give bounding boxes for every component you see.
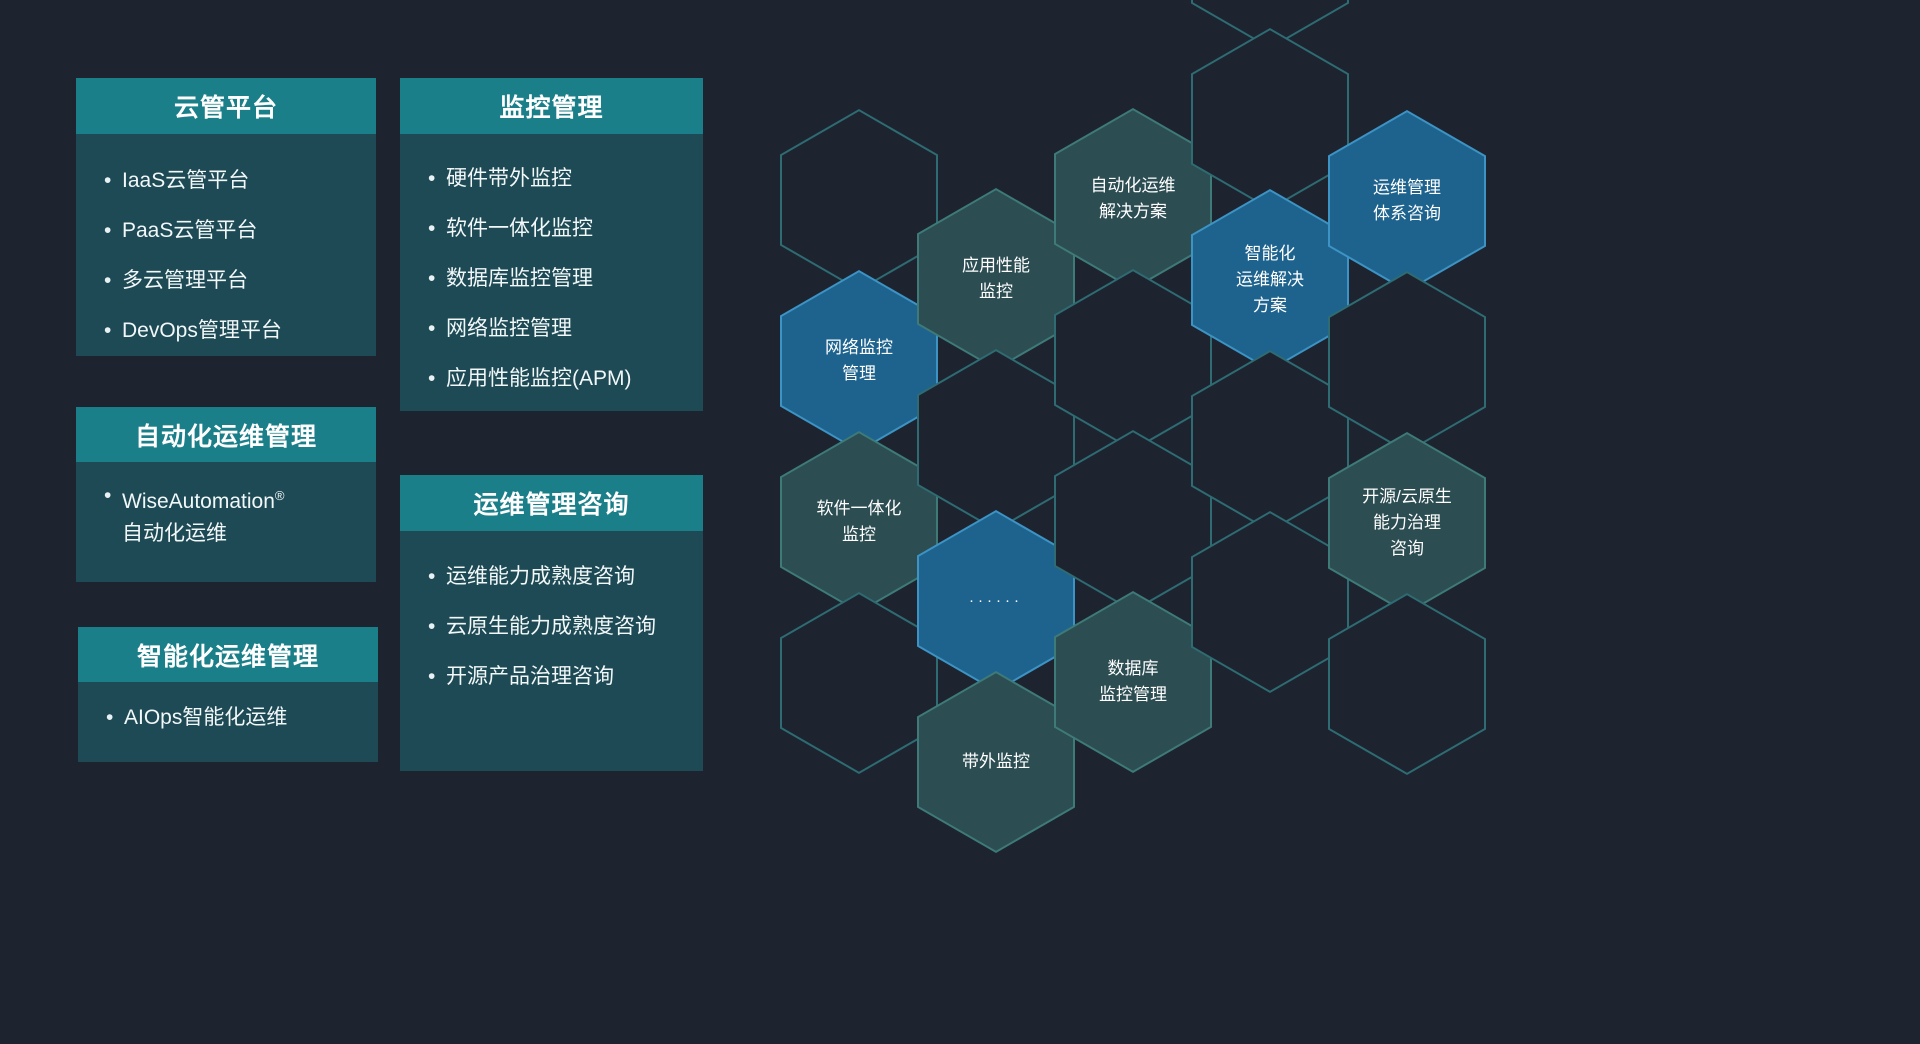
card-aiops-title: 智能化运维管理 (78, 627, 378, 682)
card-monitoring-list: 硬件带外监控 软件一体化监控 数据库监控管理 网络监控管理 应用性能监控(APM… (426, 154, 685, 404)
hex-empty-5 (1054, 430, 1212, 612)
card-cloud-platform-list: IaaS云管平台 PaaS云管平台 多云管理平台 DevOps管理平台 (102, 156, 358, 356)
list-item: 硬件带外监控 (426, 154, 685, 204)
hex-empty-4 (1054, 269, 1212, 451)
card-automation-ops-body: WiseAutomation®自动化运维 (76, 462, 376, 582)
list-item: 网络监控管理 (426, 304, 685, 354)
card-automation-ops-list: WiseAutomation®自动化运维 (102, 480, 358, 550)
hex-out-of-band-monitoring[interactable]: 带外监控 (917, 671, 1075, 853)
card-ops-consulting-title: 运维管理咨询 (400, 475, 703, 531)
list-item: WiseAutomation®自动化运维 (102, 480, 358, 550)
list-item: PaaS云管平台 (102, 206, 358, 256)
list-item: 数据库监控管理 (426, 254, 685, 304)
hex-opensource-cloudnative-consulting[interactable]: 开源/云原生 能力治理 咨询 (1328, 432, 1486, 614)
hex-software-integrated-monitoring-label: 软件一体化 监控 (809, 496, 910, 548)
hex-empty-3 (917, 349, 1075, 531)
list-item: AIOps智能化运维 (104, 702, 360, 734)
card-cloud-platform-body: IaaS云管平台 PaaS云管平台 多云管理平台 DevOps管理平台 (76, 134, 376, 356)
card-cloud-platform-title: 云管平台 (76, 78, 376, 134)
hex-aiops-solution[interactable]: 智能化 运维解决 方案 (1191, 189, 1349, 371)
capability-card-panel: 云管平台 IaaS云管平台 PaaS云管平台 多云管理平台 DevOps管理平台… (0, 0, 760, 1044)
list-item: 开源产品治理咨询 (426, 659, 685, 695)
hex-empty-8 (1191, 350, 1349, 532)
hex-ops-system-consulting[interactable]: 运维管理 体系咨询 (1328, 110, 1486, 292)
hex-ellipsis[interactable]: ······ (917, 510, 1075, 692)
list-item: 应用性能监控(APM) (426, 354, 685, 404)
hex-automation-solution-label: 自动化运维 解决方案 (1083, 173, 1184, 225)
card-automation-ops[interactable]: 自动化运维管理 WiseAutomation®自动化运维 (76, 407, 376, 582)
slide-root: 云管平台 IaaS云管平台 PaaS云管平台 多云管理平台 DevOps管理平台… (0, 0, 1920, 1044)
hex-software-integrated-monitoring[interactable]: 软件一体化 监控 (780, 431, 938, 613)
card-aiops-list: AIOps智能化运维 (104, 702, 360, 734)
hex-out-of-band-monitoring-label: 带外监控 (954, 749, 1038, 775)
list-item: 多云管理平台 (102, 256, 358, 306)
hex-ellipsis-label: ······ (961, 588, 1031, 614)
hex-empty-10 (1328, 271, 1486, 453)
hex-empty-1 (780, 109, 938, 291)
card-ops-consulting-body: 运维能力成熟度咨询 云原生能力成熟度咨询 开源产品治理咨询 (400, 531, 703, 771)
hex-aiops-solution-label: 智能化 运维解决 方案 (1228, 241, 1312, 319)
product-name: WiseAutomation (122, 490, 275, 513)
hex-database-monitoring-label: 数据库 监控管理 (1091, 656, 1175, 708)
hex-network-monitoring[interactable]: 网络监控 管理 (780, 270, 938, 452)
card-aiops-body: AIOps智能化运维 (78, 682, 378, 762)
hex-empty-2 (780, 592, 938, 774)
list-item: 运维能力成熟度咨询 (426, 559, 685, 595)
hex-empty-9 (1191, 511, 1349, 693)
card-ops-consulting-list: 运维能力成熟度咨询 云原生能力成熟度咨询 开源产品治理咨询 (426, 559, 685, 695)
card-monitoring[interactable]: 监控管理 硬件带外监控 软件一体化监控 数据库监控管理 网络监控管理 应用性能监… (400, 78, 703, 411)
card-monitoring-body: 硬件带外监控 软件一体化监控 数据库监控管理 网络监控管理 应用性能监控(APM… (400, 134, 703, 411)
registered-mark: ® (275, 488, 285, 503)
list-item: DevOps管理平台 (102, 306, 358, 356)
card-automation-ops-title: 自动化运维管理 (76, 407, 376, 462)
hexagon-cluster: 网络监控 管理软件一体化 监控应用性能 监控······带外监控自动化运维 解决… (760, 0, 1920, 1044)
hex-apm-label: 应用性能 监控 (954, 253, 1038, 305)
card-aiops[interactable]: 智能化运维管理 AIOps智能化运维 (78, 627, 378, 762)
list-item: 软件一体化监控 (426, 204, 685, 254)
card-ops-consulting[interactable]: 运维管理咨询 运维能力成熟度咨询 云原生能力成熟度咨询 开源产品治理咨询 (400, 475, 703, 771)
hex-empty-11 (1328, 593, 1486, 775)
hex-apm[interactable]: 应用性能 监控 (917, 188, 1075, 370)
list-item: IaaS云管平台 (102, 156, 358, 206)
card-cloud-platform[interactable]: 云管平台 IaaS云管平台 PaaS云管平台 多云管理平台 DevOps管理平台 (76, 78, 376, 356)
product-desc: 自动化运维 (122, 522, 227, 545)
hex-ops-system-consulting-label: 运维管理 体系咨询 (1365, 175, 1449, 227)
card-monitoring-title: 监控管理 (400, 78, 703, 134)
hex-database-monitoring[interactable]: 数据库 监控管理 (1054, 591, 1212, 773)
hex-automation-solution[interactable]: 自动化运维 解决方案 (1054, 108, 1212, 290)
list-item: 云原生能力成熟度咨询 (426, 609, 685, 645)
hex-network-monitoring-label: 网络监控 管理 (817, 335, 901, 387)
hex-empty-7 (1191, 28, 1349, 210)
hex-opensource-cloudnative-consulting-label: 开源/云原生 能力治理 咨询 (1354, 484, 1460, 562)
